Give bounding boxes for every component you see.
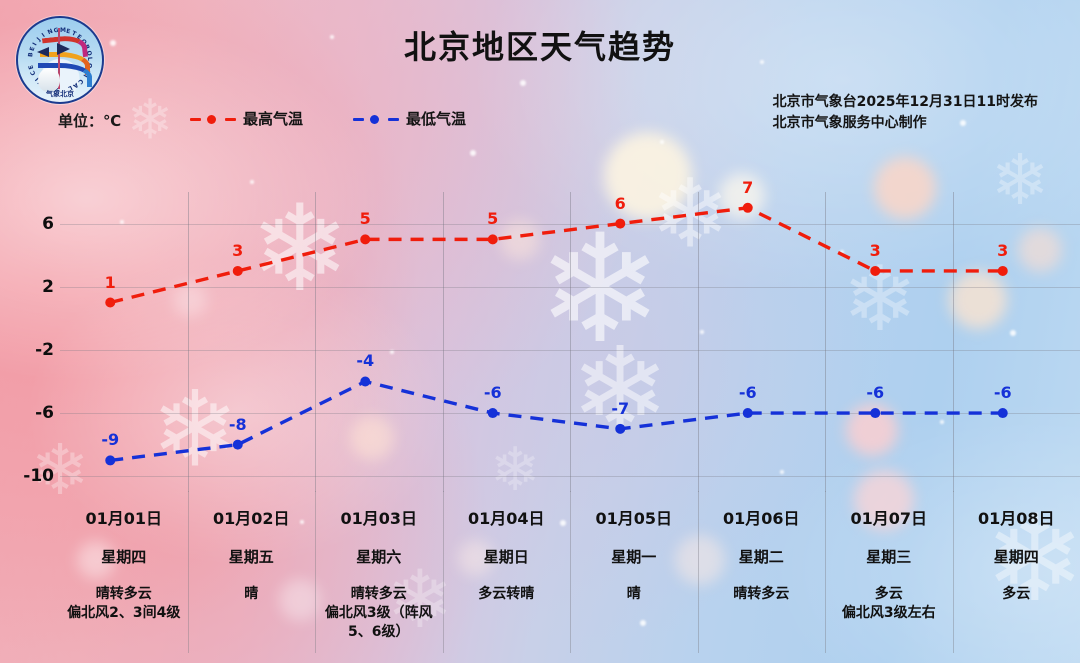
- day-date: 01月02日: [188, 505, 316, 529]
- snow-dot: [520, 80, 526, 86]
- chart-legend: 最高气温 最低气温: [190, 108, 466, 129]
- day-sky-condition: 多云: [825, 585, 953, 604]
- min-temp-value-label: -7: [611, 399, 629, 418]
- min-temp-point: [233, 440, 243, 450]
- day-column[interactable]: 01月07日星期三多云偏北风3级左右: [825, 493, 953, 663]
- min-temp-value-label: -6: [484, 383, 502, 402]
- max-temp-value-label: 5: [487, 209, 498, 228]
- day-weekday: 星期四: [60, 546, 188, 567]
- legend-label-max-temp: 最高气温: [243, 108, 303, 129]
- day-date: 01月01日: [60, 505, 188, 529]
- max-temp-value-label: 3: [997, 241, 1008, 260]
- min-temp-value-label: -8: [229, 415, 247, 434]
- legend-label-min-temp: 最低气温: [406, 108, 466, 129]
- min-temp-point: [360, 376, 370, 386]
- day-wind: 偏北风3级（阵风5、6级）: [315, 604, 443, 642]
- min-temp-point: [488, 408, 498, 418]
- day-date: 01月04日: [443, 505, 571, 529]
- max-temp-point: [488, 234, 498, 244]
- min-temp-value-label: -6: [994, 383, 1012, 402]
- day-weekday: 星期四: [953, 546, 1080, 567]
- min-temp-value-label: -6: [866, 383, 884, 402]
- min-temp-point: [615, 424, 625, 434]
- day-column[interactable]: 01月05日星期一晴: [570, 493, 698, 663]
- weather-trend-infographic: ❄❄❄❄❄❄❄❄❄❄❄❄ METEOROLOGICAL SERVICE BEIJ…: [0, 0, 1080, 663]
- logo-ring-char: C: [29, 69, 37, 76]
- day-column[interactable]: 01月08日星期四多云: [953, 493, 1080, 663]
- day-weekday: 星期日: [443, 546, 571, 567]
- min-temp-value-label: -9: [101, 430, 119, 449]
- max-temp-point: [615, 219, 625, 229]
- temperature-chart-plot-area: 62-2-6-10 13556733-9-8-4-6-7-6-6-6: [60, 192, 1080, 492]
- day-sky-condition: 晴转多云: [698, 585, 826, 604]
- day-weekday: 星期一: [570, 546, 698, 567]
- max-temp-point: [233, 266, 243, 276]
- day-wind: 偏北风3级左右: [825, 604, 953, 623]
- day-weekday: 星期二: [698, 546, 826, 567]
- unit-label: 单位：℃: [58, 110, 121, 131]
- min-temp-point: [743, 408, 753, 418]
- min-temp-value-label: -4: [356, 351, 374, 370]
- day-date: 01月05日: [570, 505, 698, 529]
- max-temp-value-label: 6: [615, 194, 626, 213]
- day-weekday: 星期六: [315, 546, 443, 567]
- publisher-info: 北京市气象台2025年12月31日11时发布 北京市气象服务中心制作: [773, 92, 1038, 134]
- day-date: 01月08日: [953, 505, 1080, 529]
- day-sky-condition: 晴转多云: [60, 585, 188, 604]
- snow-dot: [470, 150, 476, 156]
- max-temp-point: [743, 203, 753, 213]
- y-axis-tick-label: 2: [42, 277, 54, 297]
- max-temp-value-label: 7: [742, 178, 753, 197]
- min-temp-point: [998, 408, 1008, 418]
- max-temp-value-label: 3: [870, 241, 881, 260]
- snow-dot: [250, 180, 254, 184]
- legend-marker-min-temp-icon: [353, 113, 399, 125]
- day-sky-condition: 晴: [570, 585, 698, 604]
- legend-marker-max-temp-icon: [190, 113, 236, 125]
- day-date: 01月07日: [825, 505, 953, 529]
- y-axis-tick-label: -10: [23, 466, 54, 486]
- max-temp-point: [870, 266, 880, 276]
- day-column[interactable]: 01月01日星期四晴转多云偏北风2、3间4级: [60, 493, 188, 663]
- day-weekday: 星期五: [188, 546, 316, 567]
- y-axis-tick-label: -2: [35, 340, 54, 360]
- day-sky-condition: 晴转多云: [315, 585, 443, 604]
- logo-cn-text: 气象北京: [18, 89, 102, 99]
- day-sky-condition: 多云: [953, 585, 1080, 604]
- min-temp-point: [105, 455, 115, 465]
- day-column[interactable]: 01月06日星期二晴转多云: [698, 493, 826, 663]
- day-column[interactable]: 01月02日星期五晴: [188, 493, 316, 663]
- day-sky-condition: 晴: [188, 585, 316, 604]
- daily-forecast-row: 01月01日星期四晴转多云偏北风2、3间4级01月02日星期五晴01月03日星期…: [60, 493, 1080, 663]
- max-temp-point: [360, 234, 370, 244]
- publisher-line-1: 北京市气象台2025年12月31日11时发布: [773, 92, 1038, 113]
- min-temp-value-label: -6: [739, 383, 757, 402]
- day-column[interactable]: 01月04日星期日多云转晴: [443, 493, 571, 663]
- chart-series-lines: [60, 192, 1080, 492]
- day-sky-condition: 多云转晴: [443, 585, 571, 604]
- legend-item-max-temp: 最高气温: [190, 108, 303, 129]
- max-temp-point: [105, 298, 115, 308]
- max-temp-value-label: 5: [360, 209, 371, 228]
- day-date: 01月03日: [315, 505, 443, 529]
- day-weekday: 星期三: [825, 546, 953, 567]
- max-temp-value-label: 1: [105, 273, 116, 292]
- page-title: 北京地区天气趋势: [0, 22, 1080, 68]
- y-axis-tick-label: -6: [35, 403, 54, 423]
- legend-item-min-temp: 最低气温: [353, 108, 466, 129]
- snow-dot: [660, 140, 664, 144]
- max-temp-value-label: 3: [232, 241, 243, 260]
- max-temp-point: [998, 266, 1008, 276]
- min-temp-point: [870, 408, 880, 418]
- publisher-line-2: 北京市气象服务中心制作: [773, 113, 1038, 134]
- day-wind: 偏北风2、3间4级: [60, 604, 188, 623]
- day-column[interactable]: 01月03日星期六晴转多云偏北风3级（阵风5、6级）: [315, 493, 443, 663]
- y-axis-tick-label: 6: [42, 214, 54, 234]
- day-date: 01月06日: [698, 505, 826, 529]
